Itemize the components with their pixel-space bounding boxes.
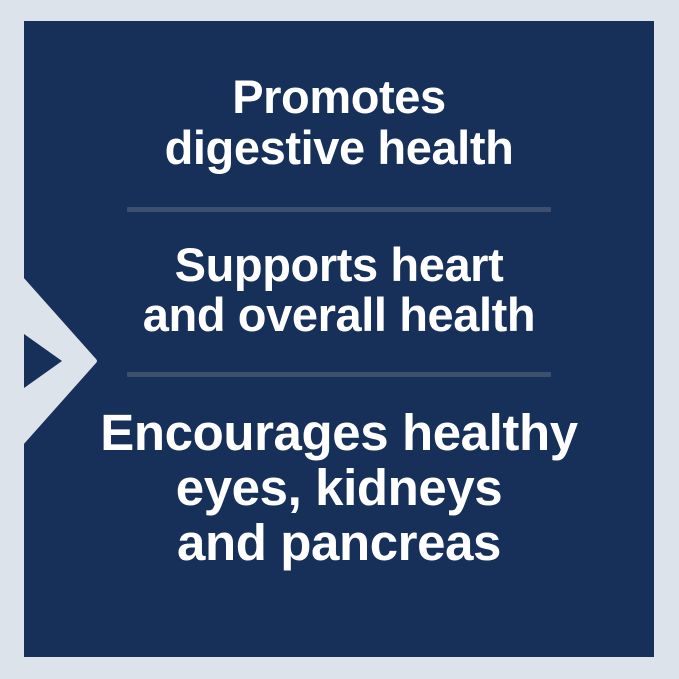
benefit-line: Supports heart — [24, 240, 654, 291]
benefit-line: eyes, kidneys — [24, 460, 654, 515]
benefit-line: and overall health — [24, 290, 654, 341]
benefit-divider — [127, 207, 551, 212]
benefits-list: Promotes digestive health Supports heart… — [24, 21, 654, 657]
benefit-line: and pancreas — [24, 515, 654, 570]
benefit-item-heart-health: Supports heart and overall health — [24, 240, 654, 342]
benefits-panel: Promotes digestive health Supports heart… — [24, 21, 654, 657]
benefit-line: digestive health — [24, 123, 654, 174]
benefit-item-eyes-kidneys-pancreas: Encourages healthy eyes, kidneys and pan… — [24, 405, 654, 570]
benefit-line: Encourages healthy — [24, 405, 654, 460]
benefits-card: Promotes digestive health Supports heart… — [0, 0, 679, 679]
benefit-divider — [127, 372, 551, 377]
benefit-item-digestive-health: Promotes digestive health — [24, 72, 654, 174]
benefit-line: Promotes — [24, 72, 654, 123]
